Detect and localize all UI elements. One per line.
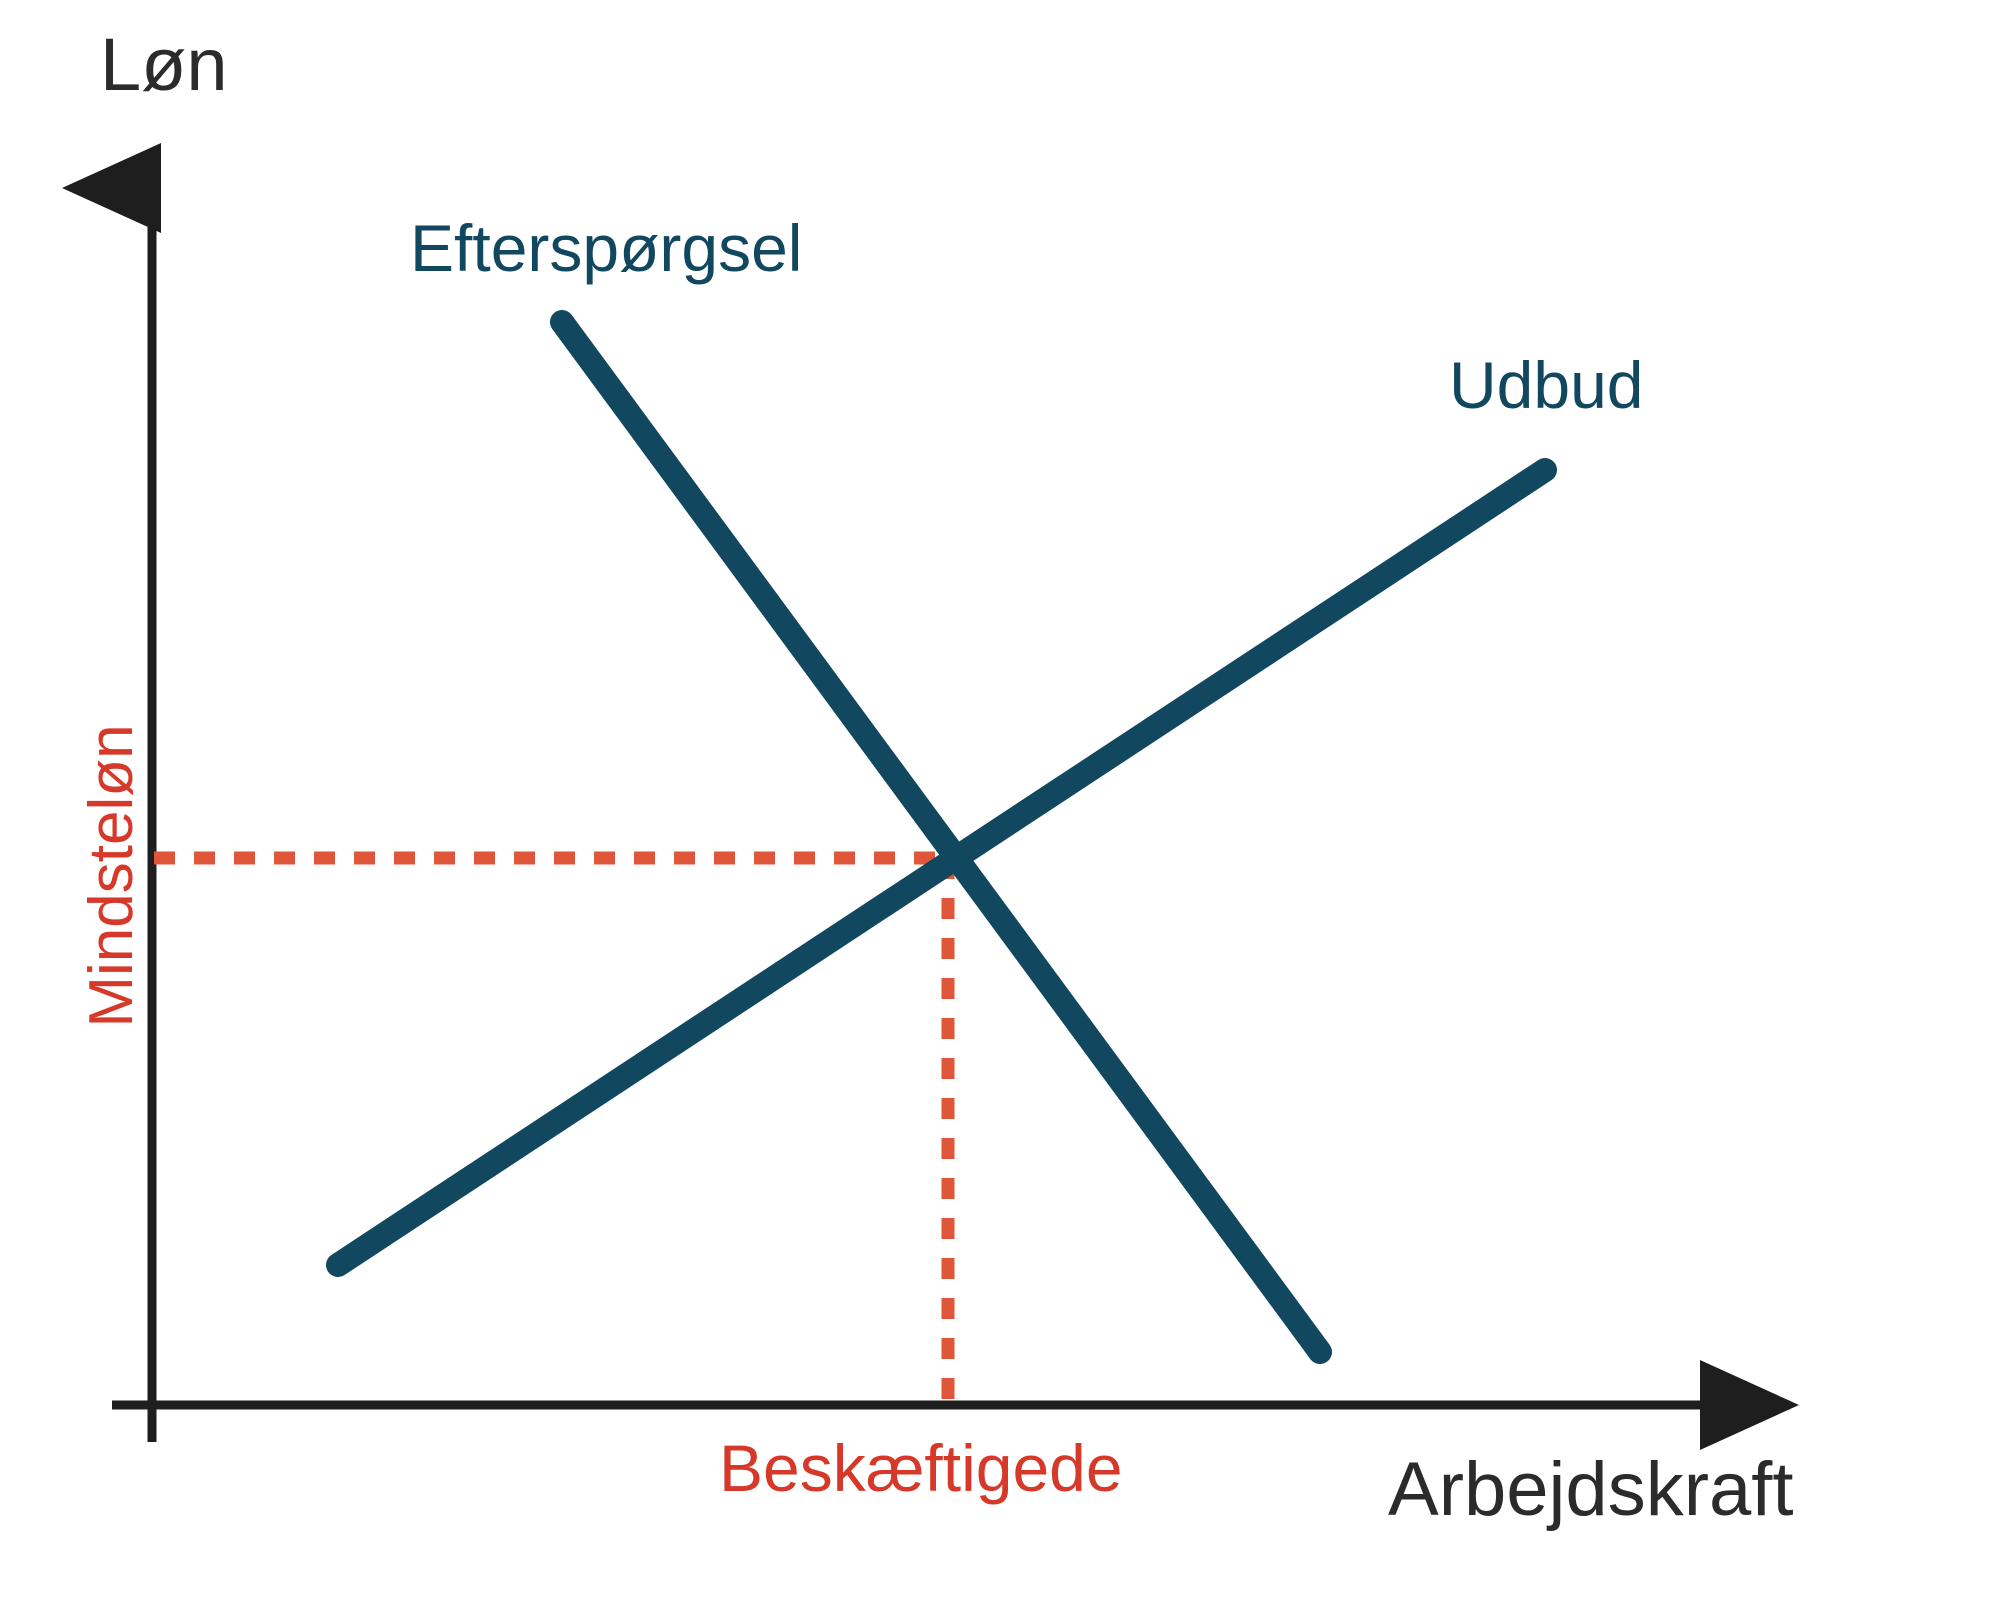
minimum-wage-label: Mindsteløn (81, 666, 143, 1086)
demand-curve-label: Efterspørgsel (410, 215, 802, 281)
supply-demand-chart (0, 0, 2000, 1611)
demand-curve[interactable] (562, 322, 1320, 1352)
employed-label: Beskæftigede (719, 1435, 1123, 1501)
y-axis-label: Løn (100, 28, 228, 102)
x-axis-label: Arbejdskraft (1388, 1452, 1794, 1528)
chart-canvas: Løn Arbejdskraft Efterspørgsel Udbud Min… (0, 0, 2000, 1611)
supply-curve-label: Udbud (1449, 352, 1644, 418)
